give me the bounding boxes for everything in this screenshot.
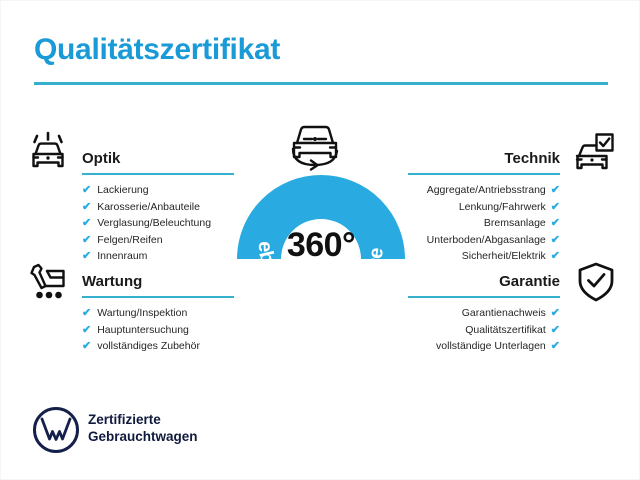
section-title-optik: Optik bbox=[82, 149, 234, 169]
badge-ring: Gebrauchtwagen-Check bbox=[229, 153, 413, 337]
check-icon: ✔ bbox=[82, 182, 91, 199]
footer-brand-text: Zertifizierte Gebrauchtwagen bbox=[88, 412, 198, 445]
section-divider-wartung bbox=[82, 296, 234, 298]
list-item-label: Garantienachweis bbox=[462, 305, 546, 322]
list-item-label: Verglasung/Beleuchtung bbox=[97, 215, 211, 232]
section-divider-optik bbox=[82, 173, 234, 175]
list-item-label: Unterboden/Abgasanlage bbox=[427, 232, 546, 249]
list-item: ✔Qualitätszertifikat bbox=[408, 322, 560, 339]
list-item-label: vollständiges Zubehör bbox=[97, 338, 200, 355]
list-item-label: Innenraum bbox=[97, 248, 147, 265]
car-checkbox-icon bbox=[571, 130, 617, 176]
check-icon: ✔ bbox=[82, 305, 91, 322]
section-technik: Technik ✔Aggregate/Antriebsstrang ✔Lenku… bbox=[408, 149, 560, 265]
list-item: ✔Wartung/Inspektion bbox=[82, 305, 234, 322]
section-head-garantie: Garantie bbox=[408, 272, 560, 298]
list-item-label: Aggregate/Antriebsstrang bbox=[427, 182, 546, 199]
list-item: ✔Hauptuntersuchung bbox=[82, 322, 234, 339]
list-item: ✔vollständiges Zubehör bbox=[82, 338, 234, 355]
list-item: ✔Bremsanlage bbox=[408, 215, 560, 232]
list-item-label: Sicherheit/Elektrik bbox=[462, 248, 546, 265]
check-list-technik: ✔Aggregate/Antriebsstrang ✔Lenkung/Fahrw… bbox=[408, 182, 560, 265]
check-list-optik: ✔Lackierung ✔Karosserie/Anbauteile ✔Verg… bbox=[82, 182, 234, 265]
check-icon: ✔ bbox=[551, 338, 560, 355]
list-item: ✔Unterboden/Abgasanlage bbox=[408, 232, 560, 249]
check-icon: ✔ bbox=[82, 215, 91, 232]
check-icon: ✔ bbox=[82, 322, 91, 339]
section-head-technik: Technik bbox=[408, 149, 560, 175]
list-item: ✔Verglasung/Beleuchtung bbox=[82, 215, 234, 232]
check-icon: ✔ bbox=[551, 305, 560, 322]
badge-360-gebrauchtwagen-check: Gebrauchtwagen-Check 360° bbox=[229, 153, 413, 337]
list-item: ✔Innenraum bbox=[82, 248, 234, 265]
footer-line-1: Zertifizierte bbox=[88, 412, 198, 429]
list-item: ✔Felgen/Reifen bbox=[82, 232, 234, 249]
page-title: Qualitätszertifikat bbox=[34, 33, 280, 67]
check-icon: ✔ bbox=[551, 182, 560, 199]
shield-check-icon bbox=[573, 259, 619, 305]
list-item: ✔Lackierung bbox=[82, 182, 234, 199]
list-item-label: Bremsanlage bbox=[484, 215, 546, 232]
vw-roundel-logo bbox=[32, 406, 80, 454]
list-item-label: Lackierung bbox=[97, 182, 148, 199]
list-item: ✔Aggregate/Antriebsstrang bbox=[408, 182, 560, 199]
title-divider bbox=[34, 82, 608, 85]
list-item: ✔Karosserie/Anbauteile bbox=[82, 199, 234, 216]
footer-line-2: Gebrauchtwagen bbox=[88, 429, 198, 446]
list-item: ✔vollständige Unterlagen bbox=[408, 338, 560, 355]
list-item-label: Hauptuntersuchung bbox=[97, 322, 189, 339]
section-title-technik: Technik bbox=[408, 149, 560, 169]
section-divider-technik bbox=[408, 173, 560, 175]
check-icon: ✔ bbox=[551, 232, 560, 249]
section-title-garantie: Garantie bbox=[408, 272, 560, 292]
list-item-label: Felgen/Reifen bbox=[97, 232, 162, 249]
wrench-car-service-icon bbox=[25, 259, 71, 305]
list-item: ✔Sicherheit/Elektrik bbox=[408, 248, 560, 265]
section-garantie: Garantie ✔Garantienachweis ✔Qualitätszer… bbox=[408, 272, 560, 355]
check-icon: ✔ bbox=[551, 322, 560, 339]
list-item-label: Lenkung/Fahrwerk bbox=[459, 199, 546, 216]
car-shine-icon bbox=[25, 130, 71, 176]
section-head-optik: Optik bbox=[82, 149, 234, 175]
car-front-rotate-icon bbox=[279, 119, 351, 171]
list-item: ✔Lenkung/Fahrwerk bbox=[408, 199, 560, 216]
list-item: ✔Garantienachweis bbox=[408, 305, 560, 322]
list-item-label: vollständige Unterlagen bbox=[436, 338, 546, 355]
section-optik: Optik ✔Lackierung ✔Karosserie/Anbauteile… bbox=[82, 149, 234, 265]
check-list-garantie: ✔Garantienachweis ✔Qualitätszertifikat ✔… bbox=[408, 305, 560, 355]
check-icon: ✔ bbox=[551, 215, 560, 232]
list-item-label: Karosserie/Anbauteile bbox=[97, 199, 200, 216]
check-icon: ✔ bbox=[82, 199, 91, 216]
section-head-wartung: Wartung bbox=[82, 272, 234, 298]
list-item-label: Wartung/Inspektion bbox=[97, 305, 187, 322]
check-icon: ✔ bbox=[551, 199, 560, 216]
check-icon: ✔ bbox=[82, 232, 91, 249]
certificate-page: Qualitätszertifikat bbox=[0, 0, 640, 480]
section-divider-garantie bbox=[408, 296, 560, 298]
check-icon: ✔ bbox=[82, 248, 91, 265]
check-icon: ✔ bbox=[82, 338, 91, 355]
section-title-wartung: Wartung bbox=[82, 272, 234, 292]
section-wartung: Wartung ✔Wartung/Inspektion ✔Hauptunters… bbox=[82, 272, 234, 355]
check-icon: ✔ bbox=[551, 248, 560, 265]
check-list-wartung: ✔Wartung/Inspektion ✔Hauptuntersuchung ✔… bbox=[82, 305, 234, 355]
list-item-label: Qualitätszertifikat bbox=[465, 322, 546, 339]
